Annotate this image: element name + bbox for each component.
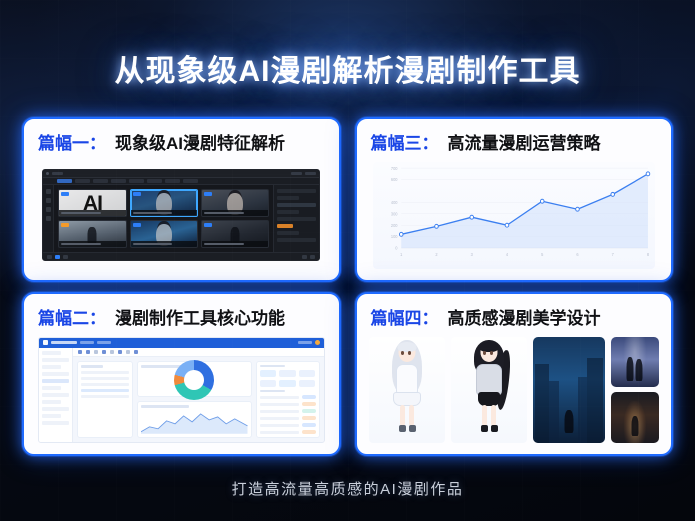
- panel-title: [81, 365, 103, 368]
- character-eye: [408, 351, 411, 354]
- clip-caption: [131, 210, 197, 216]
- header-nav-text[interactable]: [97, 341, 111, 344]
- person-silhouette: [564, 410, 573, 433]
- property-row: [277, 203, 316, 207]
- chart-data-point: [399, 232, 403, 236]
- character-shoe: [399, 425, 406, 431]
- table-row[interactable]: [260, 430, 316, 434]
- dashboard-side-panel[interactable]: [256, 361, 320, 439]
- character-fringe: [479, 342, 498, 352]
- editor-tab[interactable]: [183, 179, 198, 183]
- character-leg: [491, 405, 496, 426]
- trend-chart-panel: [137, 401, 252, 438]
- toolbar-icon[interactable]: [134, 350, 138, 354]
- card-four-index: 篇幅四：: [371, 304, 439, 329]
- status-icon: [47, 255, 52, 259]
- chart-y-tick-label: 400: [390, 200, 397, 205]
- window-dot-icon: [46, 172, 49, 175]
- chart-data-point: [469, 215, 473, 219]
- character-shoe: [481, 425, 488, 431]
- scene-artwork-city-street[interactable]: [533, 337, 605, 444]
- quick-action-tile[interactable]: [260, 380, 277, 387]
- toolbar-icon[interactable]: [110, 350, 114, 354]
- list-item[interactable]: [81, 395, 129, 398]
- panel-title: [260, 390, 285, 392]
- chart-y-tick-label: 700: [390, 166, 397, 171]
- table-row[interactable]: [260, 416, 316, 420]
- property-row: [277, 238, 316, 242]
- rail-icon[interactable]: [46, 198, 51, 203]
- status-icon: [63, 255, 68, 259]
- card-three-title: 高流量漫剧运营策略: [448, 129, 601, 154]
- card-grid: 篇幅一： 现象级AI漫剧特征解析: [22, 117, 673, 456]
- editor-tab[interactable]: [129, 179, 144, 183]
- page-title-wrap: 从现象级AI漫剧解析漫剧制作工具: [0, 46, 695, 90]
- sidebar-item[interactable]: [42, 421, 69, 425]
- scene-artwork-column: [611, 337, 660, 444]
- toolbar-icon[interactable]: [78, 350, 82, 354]
- card-three-index: 篇幅三：: [371, 129, 439, 154]
- chart-y-tick-label: 600: [390, 177, 397, 182]
- sidebar-item[interactable]: [42, 386, 61, 390]
- chart-x-tick-label: 8: [646, 252, 649, 257]
- property-highlight: [277, 224, 293, 228]
- card-four-title: 高质感漫剧美学设计: [448, 304, 601, 329]
- chart-x-tick-label: 3: [470, 252, 473, 257]
- clip-thumbnail[interactable]: [201, 189, 269, 217]
- clip-badge: [133, 192, 141, 196]
- chart-x-tick-label: 6: [576, 252, 579, 257]
- video-editor-screenshot: AI: [42, 169, 320, 261]
- trend-area-chart: [141, 408, 248, 434]
- chart-x-tick-label: 4: [505, 252, 508, 257]
- chart-data-point: [505, 223, 509, 227]
- sidebar-item-active[interactable]: [42, 379, 69, 383]
- clip-thumbnail[interactable]: AI: [58, 189, 126, 217]
- editor-main: AI: [43, 185, 319, 252]
- editor-tab[interactable]: [111, 179, 126, 183]
- editor-tab[interactable]: [57, 179, 72, 183]
- chart-y-tick-label: 300: [390, 211, 397, 216]
- sidebar-item[interactable]: [42, 358, 69, 362]
- property-row: [277, 231, 298, 235]
- clip-caption: [59, 241, 125, 247]
- table-row[interactable]: [260, 402, 316, 406]
- toolbar-icon[interactable]: [118, 350, 122, 354]
- dashboard-chart-column: [137, 361, 252, 439]
- building-silhouette: [549, 381, 559, 443]
- character-skirt: [393, 392, 421, 406]
- list-item-active[interactable]: [81, 389, 129, 392]
- person-silhouette: [631, 416, 638, 436]
- clip-thumbnail[interactable]: [130, 189, 198, 217]
- chart-data-point: [540, 199, 544, 203]
- building-silhouette: [535, 364, 549, 443]
- quick-action-tile[interactable]: [279, 370, 296, 377]
- chart-y-tick-label: 0: [395, 245, 398, 250]
- dashboard-header: [39, 338, 324, 348]
- slide-canvas: 从现象级AI漫剧解析漫剧制作工具 篇幅一： 现象级AI漫剧特征解析: [0, 0, 695, 521]
- list-item[interactable]: [81, 377, 129, 380]
- quick-action-tile[interactable]: [299, 380, 316, 387]
- clip-caption: [202, 210, 268, 216]
- scene-artwork-two-figures[interactable]: [611, 337, 660, 388]
- list-item[interactable]: [81, 383, 129, 386]
- dashboard-body: [39, 348, 324, 443]
- clip-thumbnail[interactable]: [201, 220, 269, 248]
- clip-badge: [133, 223, 141, 227]
- panel-title: [260, 365, 285, 367]
- card-two-header: 篇幅二： 漫剧制作工具核心功能: [38, 304, 329, 329]
- editor-tab[interactable]: [165, 179, 180, 183]
- dashboard-content: [73, 348, 324, 443]
- sidebar-item[interactable]: [42, 414, 61, 418]
- character-artwork-white[interactable]: [369, 337, 445, 444]
- table-row[interactable]: [260, 423, 316, 427]
- clip-badge: [204, 223, 212, 227]
- status-icon: [55, 255, 60, 259]
- editor-tab[interactable]: [75, 179, 90, 183]
- chart-x-axis-labels: 12345678: [400, 252, 650, 257]
- building-silhouette: [578, 377, 587, 443]
- trend-fill: [141, 414, 248, 434]
- building-silhouette: [587, 358, 603, 443]
- donut-chart-panel: [137, 361, 252, 398]
- sidebar-item[interactable]: [42, 393, 69, 397]
- editor-tab[interactable]: [93, 179, 108, 183]
- property-row: [277, 189, 316, 193]
- chart-x-tick-label: 2: [435, 252, 438, 257]
- traffic-line-chart: 0100200300400600700 12345678: [373, 162, 656, 269]
- card-section-two[interactable]: 篇幅二： 漫剧制作工具核心功能: [22, 292, 341, 457]
- card-one-title: 现象级AI漫剧特征解析: [115, 129, 285, 154]
- chart-data-point: [610, 192, 614, 196]
- character-fringe: [397, 342, 416, 352]
- sidebar-item[interactable]: [42, 365, 61, 369]
- chart-x-tick-label: 7: [611, 252, 614, 257]
- toolbar-icon[interactable]: [86, 350, 90, 354]
- character-eye: [490, 351, 493, 354]
- character-shorts: [478, 392, 500, 406]
- card-two-title: 漫剧制作工具核心功能: [115, 304, 285, 329]
- clip-thumbnail[interactable]: [130, 220, 198, 248]
- card-section-four[interactable]: 篇幅四： 高质感漫剧美学设计: [355, 292, 674, 457]
- card-section-one[interactable]: 篇幅一： 现象级AI漫剧特征解析: [22, 117, 341, 282]
- editor-titlebar: [43, 170, 319, 178]
- property-row: [277, 210, 298, 214]
- card-four-header: 篇幅四： 高质感漫剧美学设计: [371, 304, 662, 329]
- donut-chart: [174, 360, 214, 400]
- property-row: [277, 217, 316, 221]
- trend-svg: [141, 408, 248, 434]
- status-icon: [310, 255, 315, 259]
- editor-tabbar[interactable]: [43, 178, 319, 185]
- quick-action-tile[interactable]: [299, 370, 316, 377]
- editor-title-chip: [52, 172, 63, 175]
- clip-badge: [204, 192, 212, 196]
- chart-y-tick-label: 100: [390, 234, 397, 239]
- dashboard-toolbar[interactable]: [73, 348, 324, 357]
- app-logo-icon: [43, 340, 48, 345]
- editor-tab[interactable]: [147, 179, 162, 183]
- sidebar-item[interactable]: [42, 400, 61, 404]
- clip-caption: [131, 241, 197, 247]
- card-one-body: AI: [34, 160, 329, 271]
- quick-action-tile[interactable]: [279, 380, 296, 387]
- clip-caption: [202, 241, 268, 247]
- card-three-header: 篇幅三： 高流量漫剧运营策略: [371, 129, 662, 154]
- artwork-gallery: [367, 335, 662, 446]
- chart-x-tick-label: 1: [400, 252, 403, 257]
- editor-properties-panel[interactable]: [273, 185, 319, 252]
- person-silhouette: [626, 357, 633, 381]
- list-item[interactable]: [81, 371, 129, 374]
- character-shoe: [491, 425, 498, 431]
- clip-thumbnail[interactable]: [58, 220, 126, 248]
- chart-data-point: [434, 224, 438, 228]
- header-action-text[interactable]: [298, 341, 312, 344]
- status-icon: [302, 255, 307, 259]
- card-two-body: [34, 335, 329, 446]
- editor-action-chip: [305, 172, 316, 175]
- clip-badge: [61, 223, 69, 227]
- quick-action-tile[interactable]: [260, 370, 277, 377]
- editor-statusbar: [43, 252, 319, 260]
- app-name-text: [51, 341, 77, 344]
- sidebar-item[interactable]: [42, 372, 69, 376]
- editor-sidebar-rail[interactable]: [43, 185, 54, 252]
- person-silhouette: [635, 359, 642, 381]
- donut-chart-wrap: [141, 368, 248, 394]
- character-figure: [383, 337, 431, 440]
- clip-caption: [59, 210, 125, 216]
- character-figure: [465, 337, 513, 440]
- chart-area-fill: [401, 174, 648, 248]
- table-row[interactable]: [260, 409, 316, 413]
- card-two-index: 篇幅二：: [38, 304, 106, 329]
- sidebar-item[interactable]: [42, 407, 69, 411]
- toolbar-icon[interactable]: [94, 350, 98, 354]
- rail-icon[interactable]: [46, 207, 51, 212]
- toolbar-icon[interactable]: [126, 350, 130, 354]
- sidebar-item[interactable]: [42, 351, 61, 355]
- chart-y-tick-label: 200: [390, 223, 397, 228]
- dashboard-list-panel[interactable]: [77, 361, 133, 439]
- chart-svg: 0100200300400600700 12345678: [373, 162, 656, 269]
- character-leg: [400, 405, 405, 426]
- dashboard-columns: [73, 357, 324, 443]
- dashboard-screenshot: [38, 337, 325, 444]
- character-artwork-black[interactable]: [451, 337, 527, 444]
- chart-data-point: [646, 172, 650, 176]
- clip-thumbnail-grid: AI: [54, 185, 273, 252]
- table-row[interactable]: [260, 395, 316, 399]
- avatar[interactable]: [315, 340, 320, 345]
- character-leg: [482, 405, 487, 426]
- page-footer: 打造高流量高质感的AI漫剧作品: [0, 478, 695, 499]
- rail-icon[interactable]: [46, 216, 51, 221]
- character-leg: [409, 405, 414, 426]
- toolbar-icon[interactable]: [102, 350, 106, 354]
- header-nav-text[interactable]: [80, 341, 94, 344]
- scene-artwork-corridor[interactable]: [611, 392, 660, 443]
- card-section-three[interactable]: 篇幅三： 高流量漫剧运营策略 0100200300400600700 12345…: [355, 117, 674, 282]
- chart-y-axis-labels: 0100200300400600700: [390, 166, 397, 251]
- editor-action-chip: [291, 172, 302, 175]
- card-three-body: 0100200300400600700 12345678: [367, 160, 662, 271]
- card-one-index: 篇幅一：: [38, 129, 106, 154]
- chart-x-tick-label: 5: [541, 252, 544, 257]
- card-four-body: [367, 335, 662, 446]
- character-shoe: [409, 425, 416, 431]
- quick-action-grid[interactable]: [260, 370, 316, 387]
- page-title: 从现象级AI漫剧解析漫剧制作工具: [115, 46, 581, 90]
- dashboard-sidebar[interactable]: [39, 348, 73, 443]
- card-one-header: 篇幅一： 现象级AI漫剧特征解析: [38, 129, 329, 154]
- chart-data-point: [575, 207, 579, 211]
- property-row: [277, 196, 298, 200]
- rail-icon[interactable]: [46, 189, 51, 194]
